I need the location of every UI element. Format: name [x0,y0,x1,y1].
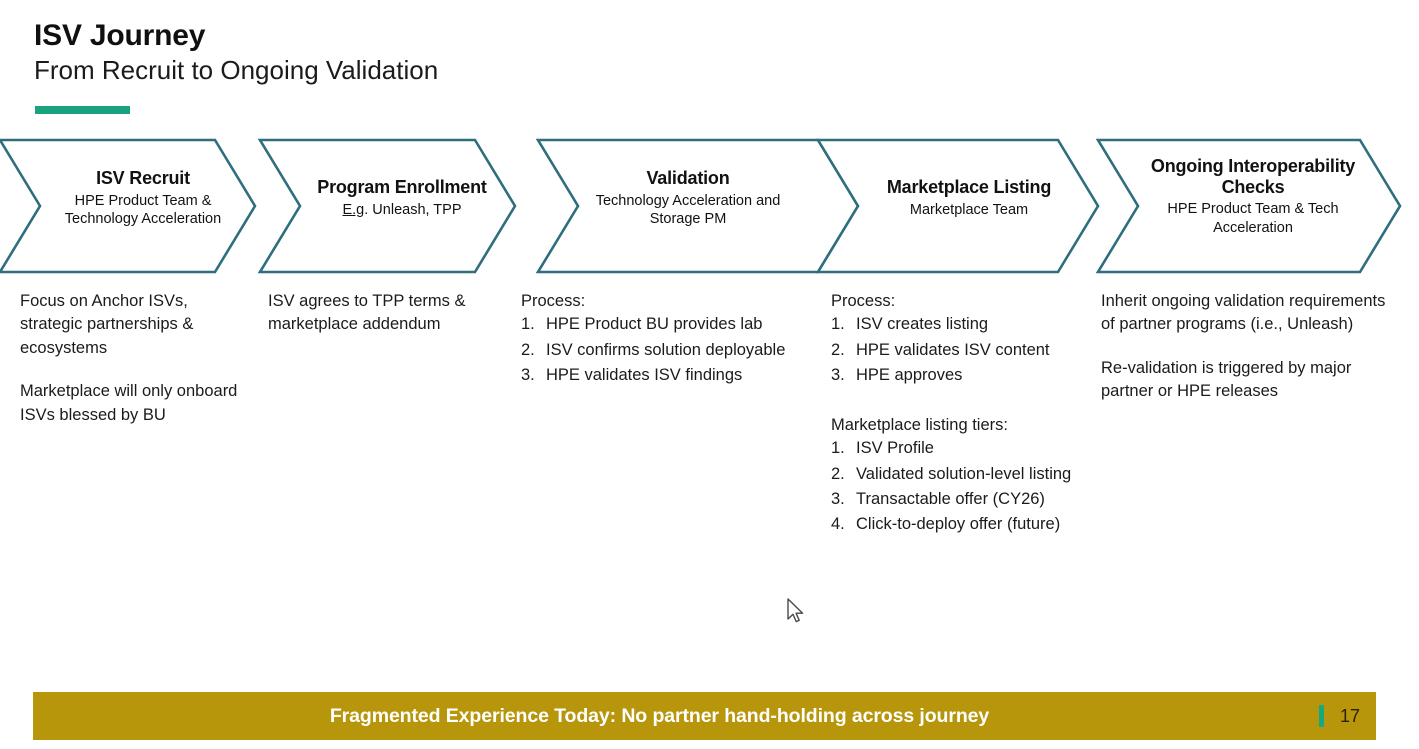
chevron-label-5: Ongoing Interoperability Checks HPE Prod… [1128,156,1378,237]
process-list-block: Process: 1.HPE Product BU provides lab 2… [521,290,821,388]
paragraph: Re-validation is triggered by major part… [1101,357,1389,404]
chevron-title-1: ISV Recruit [44,168,242,189]
chevron-subtitle-1-line2: Technology Acceleration [65,211,221,227]
paragraph: Inherit ongoing validation requirements … [1101,290,1389,337]
list-item-number: 3. [831,488,845,511]
text-block: Focus on Anchor ISVs, strategic partners… [20,290,248,360]
list-item-label: HPE validates ISV content [856,341,1050,359]
list-item-number: 1. [831,313,845,336]
chevron-subtitle-2: E.g. Unleash, TPP [302,201,502,220]
chevron-title-4: Marketplace Listing [858,177,1080,198]
chevron-label-1: ISV Recruit HPE Product Team & Technolog… [44,168,242,229]
column-program-enrollment: ISV agrees to TPP terms & marketplace ad… [268,290,508,337]
list-lead: Process: [521,290,821,313]
column-isv-recruit: Focus on Anchor ISVs, strategic partners… [20,290,248,427]
list-item-number: 1. [521,313,535,336]
title-block: ISV Journey From Recruit to Ongoing Vali… [34,20,934,87]
tiers-list-block: Marketplace listing tiers: 1.ISV Profile… [831,414,1121,537]
list-item: 3.HPE validates ISV findings [521,364,821,387]
chevron-subtitle-3-line2: Storage PM [650,211,727,227]
list-item-label: Click-to-deploy offer (future) [856,515,1060,533]
chevron-label-4: Marketplace Listing Marketplace Team [858,177,1080,219]
chevron-subtitle-5: HPE Product Team & Tech Acceleration [1128,200,1378,237]
list-item: 2.HPE validates ISV content [831,339,1121,362]
column-marketplace-listing: Process: 1.ISV creates listing 2.HPE val… [831,290,1121,539]
list-item-label: HPE Product BU provides lab [546,315,762,333]
chevron-title-3: Validation [578,168,798,189]
chevron-subtitle-4-line1: Marketplace Team [910,202,1028,218]
text-block: ISV agrees to TPP terms & marketplace ad… [268,290,508,337]
page-number-block: 17 [1306,692,1376,740]
list-item-label: Validated solution-level listing [856,465,1071,483]
chevron-subtitle-1: HPE Product Team & Technology Accelerati… [44,192,242,229]
process-list: 1.HPE Product BU provides lab 2.ISV conf… [521,313,821,387]
chevron-subtitle-1-line1: HPE Product Team & [75,193,212,209]
chevron-subtitle-5-line1: HPE Product Team & Tech [1167,201,1338,217]
list-item-label: HPE validates ISV findings [546,366,742,384]
list-item-label: Transactable offer (CY26) [856,490,1045,508]
chevron-title-2: Program Enrollment [302,177,502,198]
page-title: ISV Journey [34,20,934,52]
list-item-label: ISV Profile [856,439,934,457]
process-chevron-band: ISV Recruit HPE Product Team & Technolog… [0,138,1419,274]
chevron-label-3: Validation Technology Acceleration and S… [578,168,798,229]
list-lead: Marketplace listing tiers: [831,414,1121,437]
footer-banner: Fragmented Experience Today: No partner … [33,692,1306,740]
list-item: 2.ISV confirms solution deployable [521,339,821,362]
chevron-subtitle-2-prefix: E.g [342,202,364,218]
page-number: 17 [1340,706,1360,727]
list-item: 4.Click-to-deploy offer (future) [831,513,1121,536]
content-columns: Focus on Anchor ISVs, strategic partners… [0,290,1419,650]
list-lead: Process: [831,290,1121,313]
page-subtitle: From Recruit to Ongoing Validation [34,55,934,86]
paragraph: Focus on Anchor ISVs, strategic partners… [20,290,248,360]
text-block: Re-validation is triggered by major part… [1101,357,1389,404]
list-item: 1.ISV creates listing [831,313,1121,336]
list-item: 3.Transactable offer (CY26) [831,488,1121,511]
chevron-subtitle-3-line1: Technology Acceleration and [596,193,781,209]
tiers-list: 1.ISV Profile 2.Validated solution-level… [831,437,1121,537]
list-item: 2.Validated solution-level listing [831,463,1121,486]
list-item-label: ISV creates listing [856,315,988,333]
list-item-number: 3. [831,364,845,387]
list-item: 1.ISV Profile [831,437,1121,460]
footer-banner-text: Fragmented Experience Today: No partner … [330,705,989,728]
column-validation: Process: 1.HPE Product BU provides lab 2… [521,290,821,390]
list-item-number: 2. [521,339,535,362]
list-item: 1.HPE Product BU provides lab [521,313,821,336]
text-block: Marketplace will only onboard ISVs bless… [20,380,248,427]
paragraph: ISV agrees to TPP terms & marketplace ad… [268,290,508,337]
list-item-label: ISV confirms solution deployable [546,341,785,359]
chevron-title-5-line2: Checks [1222,177,1285,197]
list-item-label: HPE approves [856,366,962,384]
chevron-subtitle-2-rest: . Unleash, TPP [364,202,461,218]
list-item: 3.HPE approves [831,364,1121,387]
paragraph: Marketplace will only onboard ISVs bless… [20,380,248,427]
chevron-label-2: Program Enrollment E.g. Unleash, TPP [302,177,502,219]
chevron-title-5-line1: Ongoing Interoperability [1151,156,1355,176]
list-item-number: 1. [831,437,845,460]
chevron-title-5: Ongoing Interoperability Checks [1128,156,1378,197]
process-list: 1.ISV creates listing 2.HPE validates IS… [831,313,1121,387]
list-item-number: 2. [831,339,845,362]
page-tick-icon [1319,705,1324,727]
column-ongoing-interoperability: Inherit ongoing validation requirements … [1101,290,1389,404]
chevron-subtitle-5-line2: Acceleration [1213,220,1293,236]
list-item-number: 3. [521,364,535,387]
list-item-number: 4. [831,513,845,536]
text-block: Inherit ongoing validation requirements … [1101,290,1389,337]
chevron-subtitle-3: Technology Acceleration and Storage PM [578,192,798,229]
slide-canvas: ISV Journey From Recruit to Ongoing Vali… [0,0,1419,749]
title-accent-bar [35,106,130,114]
process-list-block: Process: 1.ISV creates listing 2.HPE val… [831,290,1121,388]
chevron-subtitle-4: Marketplace Team [858,201,1080,220]
list-item-number: 2. [831,463,845,486]
